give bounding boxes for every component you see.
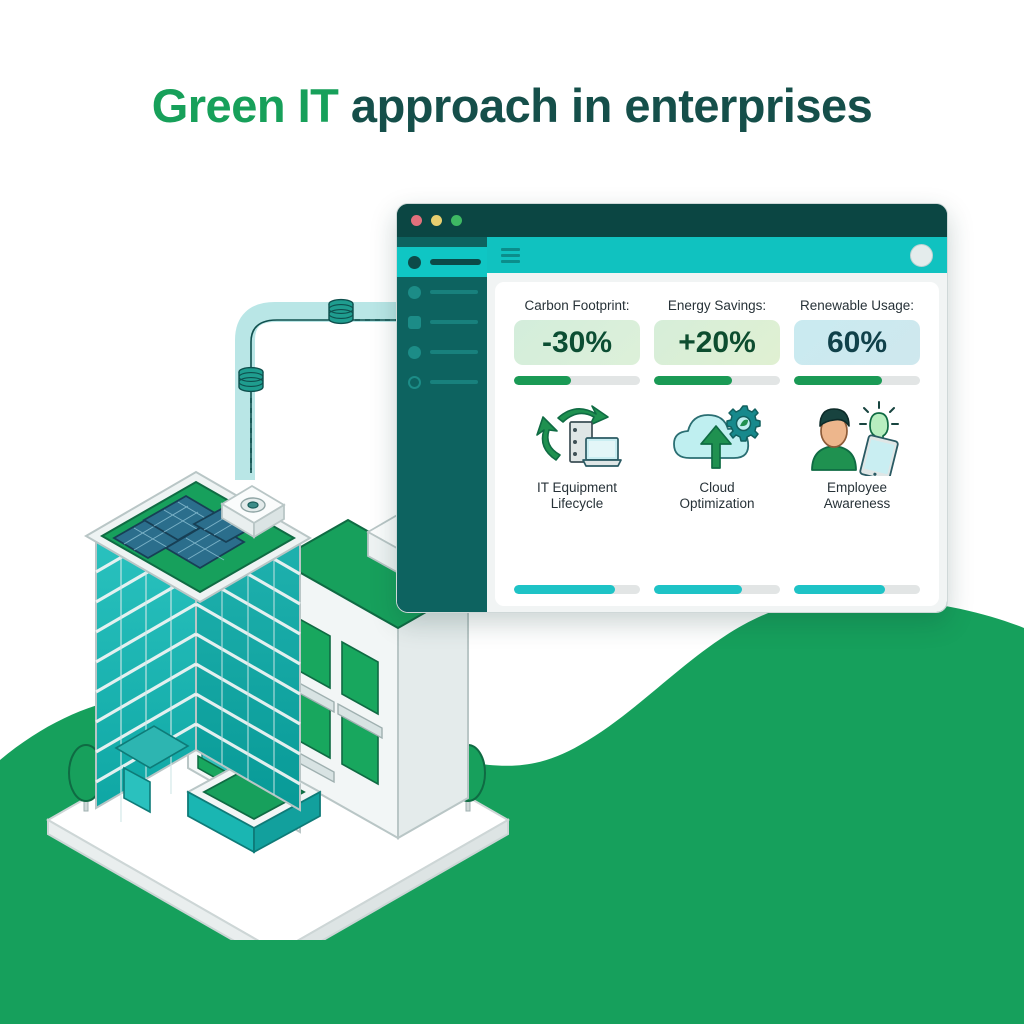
feature-progress-fill [514, 585, 615, 594]
hamburger-icon[interactable] [501, 248, 520, 263]
metric-progress-fill [794, 376, 882, 385]
sidebar-nav[interactable] [397, 237, 487, 613]
sidebar-item-1[interactable] [397, 247, 487, 277]
metric-value: -30% [514, 320, 640, 365]
metric-energy-savings: Energy Savings: +20% [647, 298, 787, 385]
metric-progress-track [794, 376, 920, 385]
feature-progress-track [654, 585, 780, 594]
feature-label: EmployeeAwareness [794, 480, 920, 512]
database-node-lower [239, 368, 263, 392]
title-rest: approach in enterprises [338, 79, 872, 132]
recycle-server-laptop-icon [514, 399, 640, 477]
sidebar-item-2[interactable] [397, 277, 487, 307]
metric-progress-track [514, 376, 640, 385]
title-highlight: Green IT [152, 79, 339, 132]
window-body: Carbon Footprint: -30% Energy Savings: +… [397, 237, 947, 613]
metric-progress-fill [514, 376, 571, 385]
ring-icon [408, 376, 421, 389]
feature-progress-fill [654, 585, 742, 594]
main-column: Carbon Footprint: -30% Energy Savings: +… [487, 237, 947, 613]
metrics-card: Carbon Footprint: -30% Energy Savings: +… [495, 282, 939, 606]
sidebar-item-label-placeholder [430, 320, 478, 325]
bullet-icon [408, 256, 421, 269]
feature-progress-track [794, 585, 920, 594]
database-node-upper [329, 300, 353, 324]
metrics-row: Carbon Footprint: -30% Energy Savings: +… [507, 298, 927, 385]
bullet-icon [408, 286, 421, 299]
maximize-button[interactable] [451, 215, 462, 226]
metric-value: +20% [654, 320, 780, 365]
metric-label: Energy Savings: [654, 298, 780, 313]
person-lightbulb-tablet-icon [794, 399, 920, 477]
sidebar-item-label-placeholder [430, 380, 478, 385]
sidebar-item-label-placeholder [430, 350, 478, 355]
features-row: IT EquipmentLifecycle [507, 399, 927, 596]
metric-label: Carbon Footprint: [514, 298, 640, 313]
sidebar-item-5[interactable] [397, 367, 487, 397]
dashboard-window[interactable]: Carbon Footprint: -30% Energy Savings: +… [396, 203, 948, 613]
feature-employee-awareness[interactable]: EmployeeAwareness [787, 399, 927, 596]
metric-renewable-usage: Renewable Usage: 60% [787, 298, 927, 385]
metric-progress-fill [654, 376, 732, 385]
feature-progress-fill [794, 585, 885, 594]
illustration-stage: Green IT approach in enterprises [0, 0, 1024, 1024]
metric-progress-track [654, 376, 780, 385]
sidebar-item-label-placeholder [430, 290, 478, 295]
feature-progress-track [514, 585, 640, 594]
metric-value: 60% [794, 320, 920, 365]
feature-label: IT EquipmentLifecycle [514, 480, 640, 512]
tablet [860, 435, 899, 476]
feature-it-equipment-lifecycle[interactable]: IT EquipmentLifecycle [507, 399, 647, 596]
sidebar-item-3[interactable] [397, 307, 487, 337]
dashboard-content: Carbon Footprint: -30% Energy Savings: +… [487, 273, 947, 613]
user-avatar[interactable] [910, 244, 933, 267]
minimize-button[interactable] [431, 215, 442, 226]
feature-label: CloudOptimization [654, 480, 780, 512]
metric-carbon-footprint: Carbon Footprint: -30% [507, 298, 647, 385]
bullet-icon [408, 346, 421, 359]
metric-label: Renewable Usage: [794, 298, 920, 313]
feature-cloud-optimization[interactable]: CloudOptimization [647, 399, 787, 596]
cloud-upload-gear-icon [654, 399, 780, 477]
sidebar-item-4[interactable] [397, 337, 487, 367]
app-toolbar [487, 237, 947, 273]
page-title: Green IT approach in enterprises [0, 78, 1024, 133]
square-icon [408, 316, 421, 329]
window-titlebar [397, 204, 947, 237]
sidebar-item-label-placeholder [430, 259, 481, 265]
close-button[interactable] [411, 215, 422, 226]
